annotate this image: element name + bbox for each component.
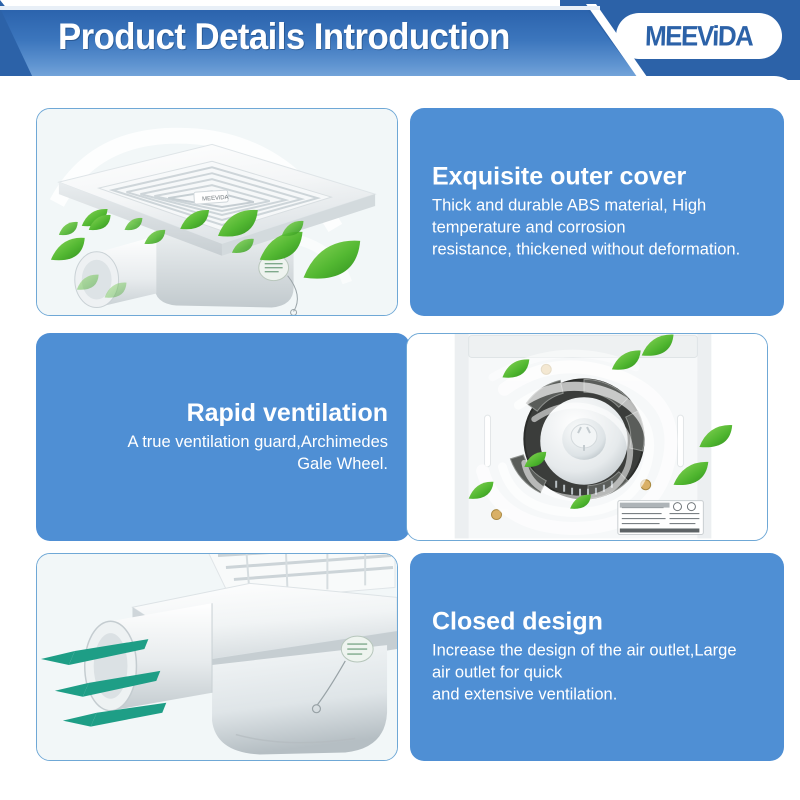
feature-description: Increase the design of the air outlet,La…: [432, 639, 762, 706]
feature-title: Exquisite outer cover: [432, 163, 762, 193]
feature-text-closed-design: Closed design Increase the design of the…: [410, 553, 784, 761]
air-outlet-duct-with-arrows-illustration: [37, 554, 397, 760]
feature-image-rapid-ventilation: [406, 333, 768, 541]
page-title: Product Details Introduction: [58, 16, 510, 58]
page-header-banner: Product Details Introduction MEEViDA: [0, 0, 800, 86]
spec-label: [618, 501, 704, 535]
feature-description: A true ventilation guard,Archimedes Gale…: [58, 430, 388, 475]
feature-title: Rapid ventilation: [58, 399, 388, 429]
product-details-page: Product Details Introduction MEEViDA: [0, 0, 800, 800]
ceiling-exhaust-fan-with-leaves-illustration: MEEViDA: [37, 109, 397, 315]
feature-description: Thick and durable ABS material, High tem…: [432, 194, 762, 261]
brand-logo-text: MEEViDA: [645, 19, 754, 52]
feature-row-2: Rapid ventilation A true ventilation gua…: [0, 333, 800, 543]
feature-row-3: Closed design Increase the design of the…: [0, 553, 800, 763]
feature-text-rapid-ventilation: Rapid ventilation A true ventilation gua…: [36, 333, 410, 541]
header-ribbon-fold-edge: [0, 6, 600, 10]
header-bottom-sweep-right: [600, 80, 800, 102]
feature-title: Closed design: [432, 608, 762, 638]
brand-logo: MEEViDA: [616, 13, 782, 59]
feature-row-1: MEEViDA: [0, 108, 800, 318]
feature-text-exquisite-outer-cover: Exquisite outer cover Thick and durable …: [410, 108, 784, 316]
product-badge: [341, 636, 373, 662]
feature-image-exquisite-outer-cover: MEEViDA: [36, 108, 398, 316]
fan-impeller-airflow-swirl-illustration: [407, 334, 767, 540]
feature-image-closed-design: [36, 553, 398, 761]
